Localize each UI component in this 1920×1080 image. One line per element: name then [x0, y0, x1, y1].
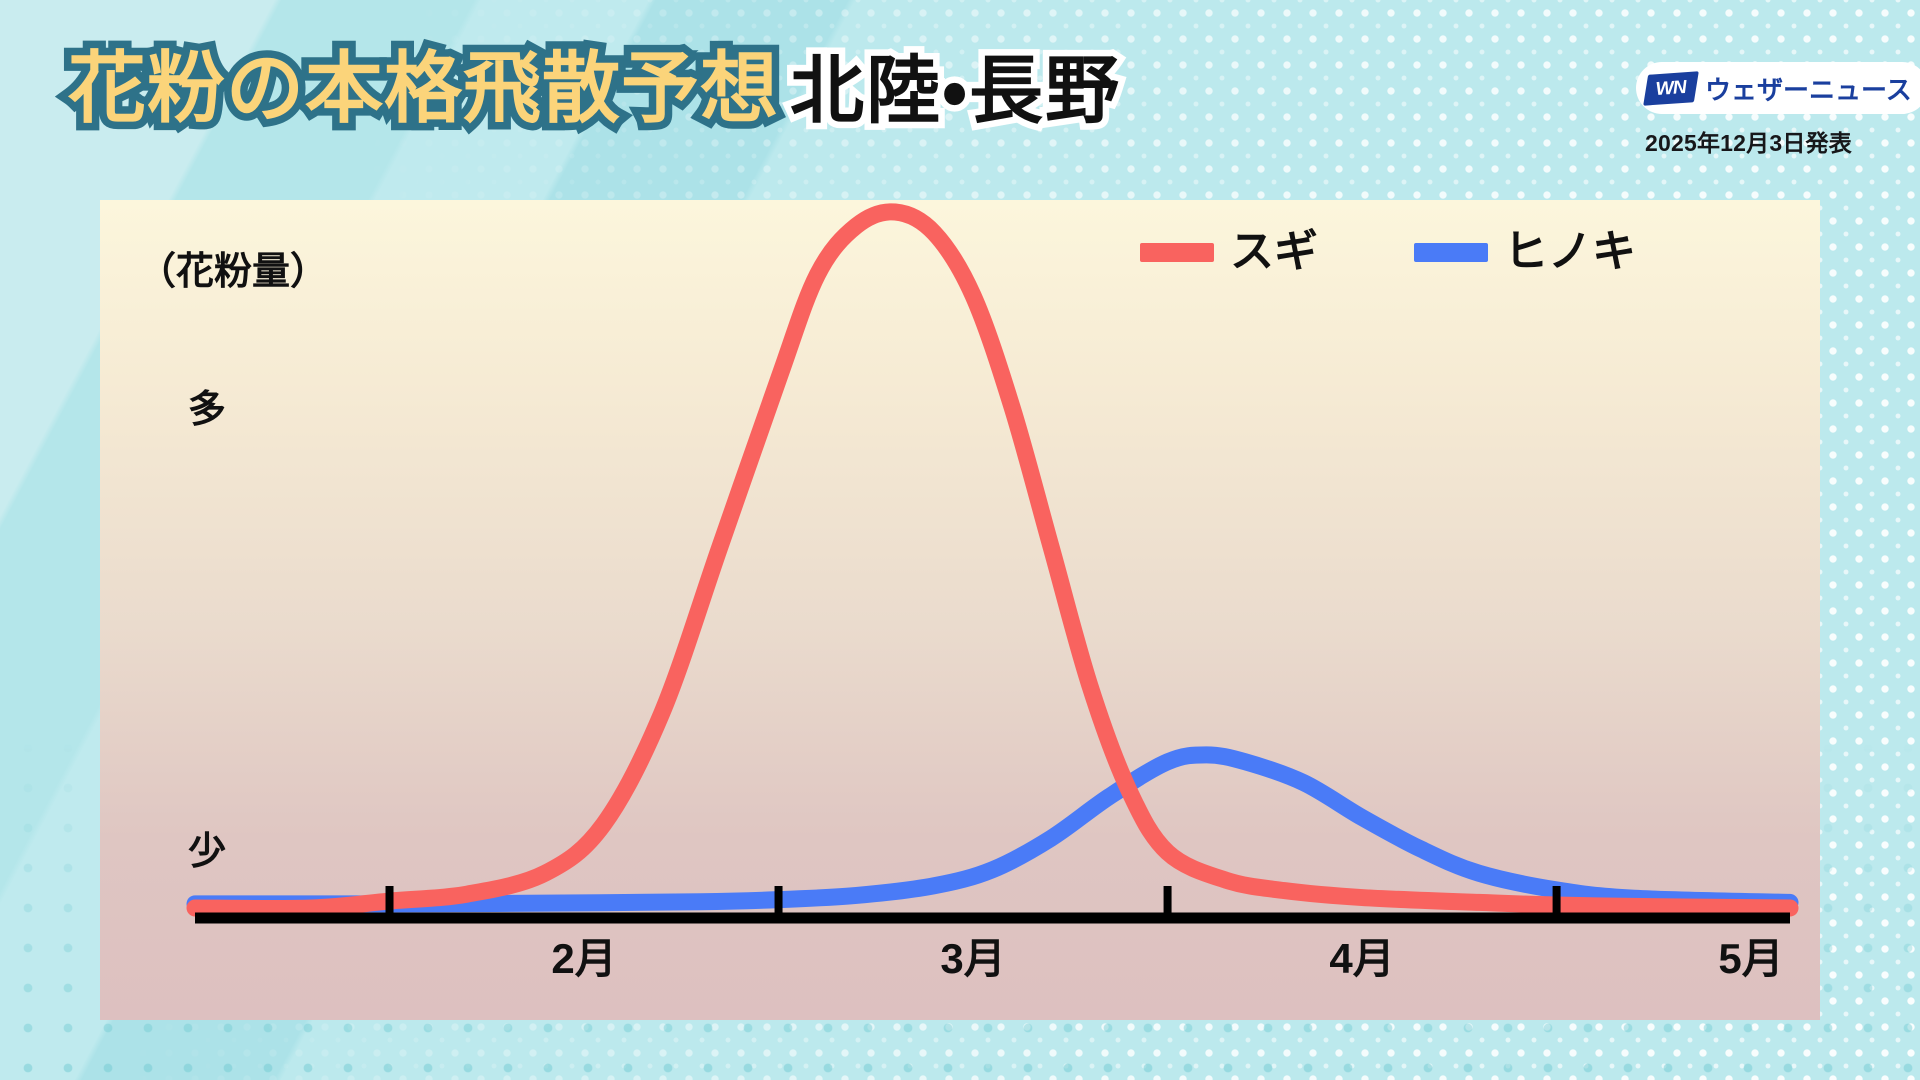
chart-panel: （花粉量） 多 少 スギ ヒノキ 2月3月4月5月 [100, 200, 1820, 1020]
wn-logo-icon: WN [1643, 71, 1699, 105]
pollen-forecast-plot [100, 200, 1820, 1020]
infographic-stage: 花粉の本格飛散予想 北陸・長野 WN ウェザーニュース 2025年12月3日発表… [0, 0, 1920, 1080]
wn-logo-text: WN [1655, 76, 1687, 100]
series-layer [195, 212, 1790, 909]
brand-name-label: ウェザーニュース [1705, 70, 1912, 107]
brand-logo: WN ウェザーニュース [1636, 62, 1920, 114]
series-line-hinoki [195, 755, 1790, 904]
region-title: 北陸・長野 [790, 52, 1121, 130]
page-title: 花粉の本格飛散予想 [68, 48, 779, 130]
publish-date-label: 2025年12月3日発表 [1645, 124, 1852, 158]
series-line-sugi [195, 212, 1790, 909]
